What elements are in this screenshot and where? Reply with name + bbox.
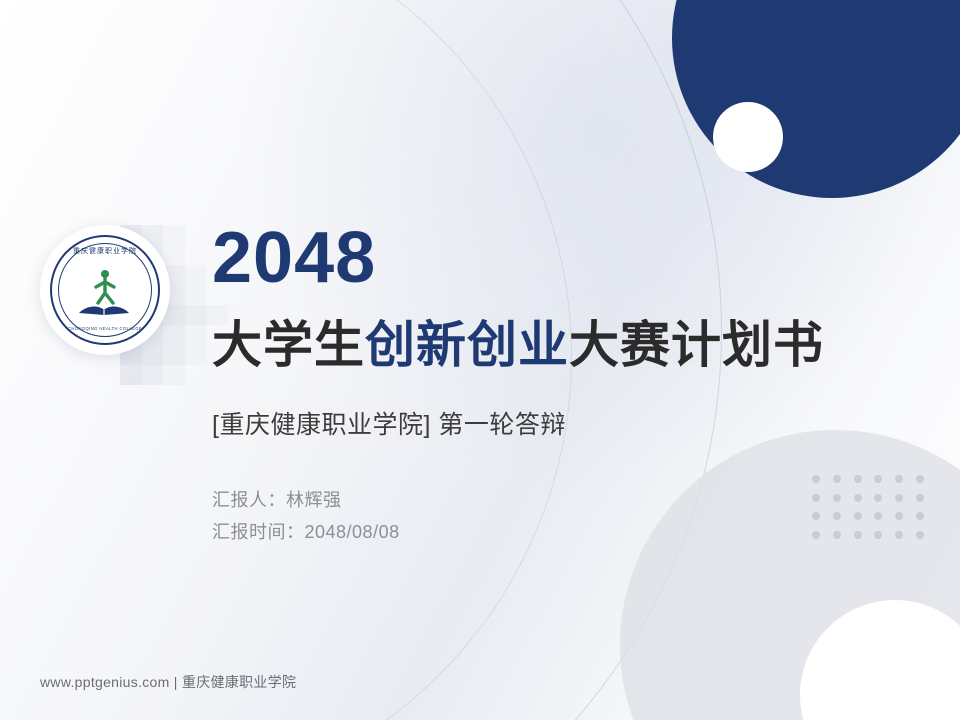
title-part-one: 大学生 <box>212 317 365 373</box>
decorative-white-dot <box>713 102 783 172</box>
logo-inner-ring: 重庆健康职业学院 CHONGQING HEALTH COLLEGE <box>50 235 160 345</box>
logo-english-name: CHONGQING HEALTH COLLEGE <box>52 326 158 331</box>
dot-grid-decoration <box>806 470 930 544</box>
logo-book-icon <box>77 299 133 317</box>
slide-subtitle: [重庆健康职业学院] 第一轮答辩 <box>212 405 566 441</box>
slide-meta: 汇报人：林辉强 汇报时间：2048/08/08 <box>212 485 400 548</box>
slide-main-title: 大学生创新创业大赛计划书 <box>212 318 824 373</box>
presentation-slide: 重庆健康职业学院 CHONGQING HEALTH COLLEGE 2048 大… <box>0 0 960 720</box>
date-line: 汇报时间：2048/08/08 <box>212 517 400 549</box>
college-logo: 重庆健康职业学院 CHONGQING HEALTH COLLEGE <box>40 225 170 355</box>
title-highlight: 创新创业 <box>365 317 569 373</box>
logo-chinese-name: 重庆健康职业学院 <box>52 246 158 256</box>
slide-footer: www.pptgenius.com | 重庆健康职业学院 <box>40 672 296 692</box>
title-part-two: 大赛计划书 <box>569 317 824 373</box>
presenter-line: 汇报人：林辉强 <box>212 485 400 517</box>
slide-year: 2048 <box>212 222 376 294</box>
logo-figure-icon <box>85 267 125 307</box>
